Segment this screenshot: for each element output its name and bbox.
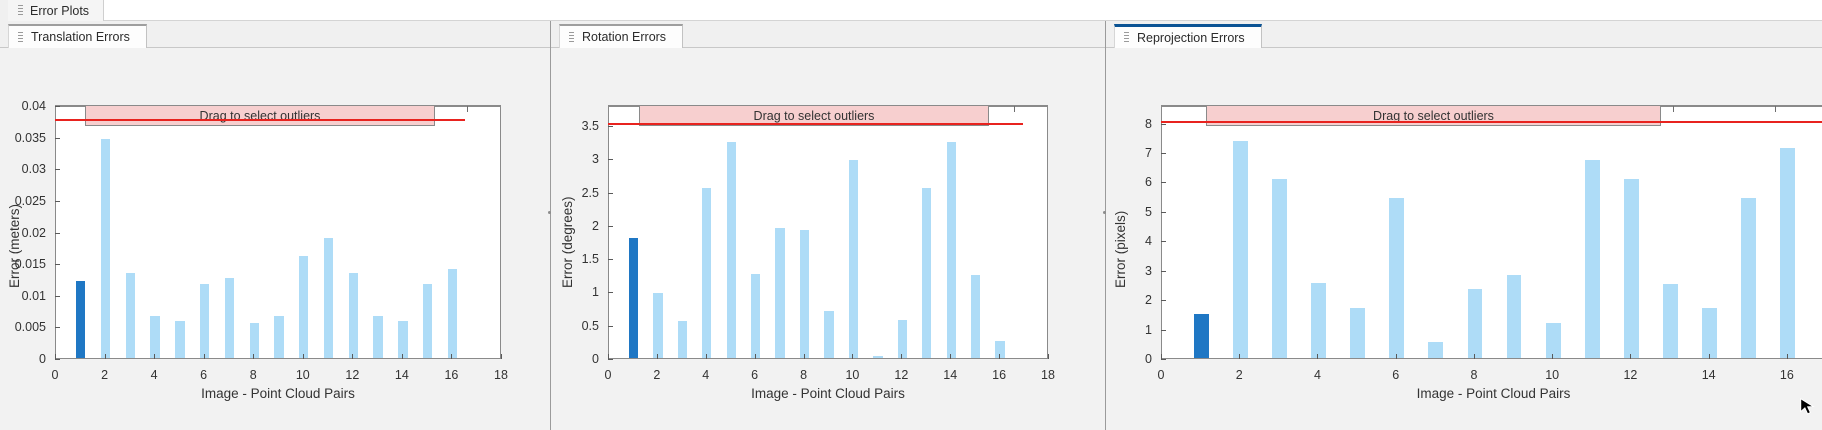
y-tick-mark — [608, 326, 613, 327]
bar[interactable] — [175, 321, 184, 358]
bar[interactable] — [1702, 308, 1717, 358]
y-tick-label: 3 — [1106, 264, 1159, 278]
y-tick-mark — [608, 292, 613, 293]
x-tick-mark — [1630, 354, 1631, 359]
x-tick-label: 10 — [845, 368, 859, 382]
bar[interactable] — [849, 160, 858, 358]
x-tick-label: 4 — [702, 368, 709, 382]
x-tick-label: 2 — [101, 368, 108, 382]
x-tick-label: 8 — [1470, 368, 1477, 382]
y-tick-label: 1 — [1106, 323, 1159, 337]
panel-body-3: Error (pixels)0123456780246810121416Imag… — [1106, 48, 1822, 430]
x-tick-mark — [55, 354, 56, 359]
y-tick-label: 0.03 — [0, 162, 53, 176]
y-tick-mark — [55, 264, 60, 265]
x-tick-label: 18 — [494, 368, 508, 382]
bar[interactable] — [1663, 284, 1678, 358]
x-tick-label: 12 — [894, 368, 908, 382]
outlier-threshold-line[interactable] — [55, 119, 465, 121]
y-tick-label: 0.02 — [0, 226, 53, 240]
bar-series — [609, 107, 1047, 358]
drag-grip-icon — [18, 5, 23, 16]
x-tick-mark — [950, 354, 951, 359]
y-tick-label: 3 — [551, 152, 606, 166]
y-tick-label: 2.5 — [551, 186, 606, 200]
bar[interactable] — [200, 284, 209, 358]
x-tick-mark — [1048, 354, 1049, 359]
bar[interactable] — [702, 188, 711, 358]
bar[interactable] — [1389, 198, 1404, 358]
figure-translation-errors: Error (meters)00.0050.010.0150.020.0250.… — [0, 48, 550, 430]
y-tick-mark — [608, 193, 613, 194]
panel-container: Translation Errors Error (meters)00.0050… — [0, 21, 1822, 430]
panel-tabbar-1: Translation Errors — [0, 21, 550, 48]
y-tick-mark — [55, 296, 60, 297]
x-tick-mark — [1787, 354, 1788, 359]
x-tick-label: 14 — [943, 368, 957, 382]
x-tick-mark — [657, 354, 658, 359]
x-tick-mark — [303, 354, 304, 359]
x-tick-label: 16 — [992, 368, 1006, 382]
bar[interactable] — [324, 238, 333, 358]
bar[interactable] — [76, 281, 85, 358]
plot-area[interactable] — [608, 106, 1048, 359]
x-tick-mark — [154, 354, 155, 359]
document-tab-error-plots[interactable]: Error Plots — [8, 0, 104, 21]
outlier-slider-label: Drag to select outliers — [754, 109, 875, 123]
drag-grip-icon — [18, 32, 23, 43]
document-tab-filler — [100, 0, 1822, 21]
slider-notch — [1014, 106, 1015, 112]
x-tick-label: 16 — [444, 368, 458, 382]
y-axis-label: Error (meters) — [7, 204, 22, 288]
x-tick-mark — [999, 354, 1000, 359]
y-tick-mark — [55, 327, 60, 328]
bar[interactable] — [423, 284, 432, 358]
y-tick-label: 0 — [0, 352, 53, 366]
bar[interactable] — [1585, 160, 1600, 358]
figure-reprojection-errors: Error (pixels)0123456780246810121416Imag… — [1106, 48, 1822, 430]
y-tick-mark — [608, 359, 613, 360]
bar[interactable] — [898, 320, 907, 358]
x-tick-mark — [1552, 354, 1553, 359]
panel-tabbar-2: Rotation Errors — [551, 21, 1105, 48]
x-tick-mark — [901, 354, 902, 359]
y-tick-mark — [608, 226, 613, 227]
bar[interactable] — [1194, 314, 1209, 358]
x-tick-mark — [1396, 354, 1397, 359]
bar[interactable] — [922, 188, 931, 358]
bar[interactable] — [1780, 148, 1795, 358]
y-tick-label: 2 — [551, 219, 606, 233]
x-tick-label: 6 — [200, 368, 207, 382]
x-tick-label: 10 — [1545, 368, 1559, 382]
bar[interactable] — [1624, 179, 1639, 358]
bar[interactable] — [824, 311, 833, 358]
panel-tabbar-3: Reprojection Errors — [1106, 21, 1822, 48]
tab-label: Reprojection Errors — [1137, 31, 1245, 45]
mouse-cursor-icon — [1798, 396, 1820, 418]
x-tick-label: 4 — [151, 368, 158, 382]
x-tick-mark — [608, 354, 609, 359]
tab-label: Rotation Errors — [582, 30, 666, 44]
document-tab-strip: Error Plots — [0, 0, 1822, 21]
x-tick-label: 16 — [1780, 368, 1794, 382]
bar[interactable] — [678, 321, 687, 358]
x-tick-mark — [755, 354, 756, 359]
x-tick-mark — [1317, 354, 1318, 359]
y-tick-label: 0.005 — [0, 320, 53, 334]
x-tick-mark — [1161, 354, 1162, 359]
x-tick-mark — [1709, 354, 1710, 359]
y-tick-label: 1 — [551, 285, 606, 299]
tab-translation-errors[interactable]: Translation Errors — [8, 24, 147, 48]
drag-grip-icon — [1124, 32, 1129, 43]
y-tick-mark — [1161, 153, 1166, 154]
slider-notch — [1775, 106, 1776, 112]
bar[interactable] — [1350, 308, 1365, 358]
outlier-threshold-line[interactable] — [1161, 121, 1822, 123]
y-tick-label: 4 — [1106, 234, 1159, 248]
y-tick-mark — [1161, 182, 1166, 183]
bar[interactable] — [1272, 179, 1287, 358]
bar[interactable] — [373, 316, 382, 358]
bar[interactable] — [250, 323, 259, 358]
bar[interactable] — [800, 230, 809, 358]
x-tick-label: 10 — [296, 368, 310, 382]
x-tick-label: 0 — [1158, 368, 1165, 382]
y-tick-label: 2 — [1106, 293, 1159, 307]
tab-rotation-errors[interactable]: Rotation Errors — [559, 24, 683, 48]
panel-body-2: Error (degrees)00.511.522.533.5024681012… — [551, 48, 1105, 430]
y-tick-mark — [1161, 212, 1166, 213]
panel-rotation-errors: Rotation Errors Error (degrees)00.511.52… — [551, 21, 1106, 430]
y-tick-label: 0 — [1106, 352, 1159, 366]
outlier-slider-thumb[interactable]: Drag to select outliers — [1206, 105, 1661, 126]
y-tick-label: 0.025 — [0, 194, 53, 208]
bar[interactable] — [1546, 323, 1561, 358]
y-tick-mark — [1161, 271, 1166, 272]
x-tick-mark — [1474, 354, 1475, 359]
x-tick-mark — [253, 354, 254, 359]
y-tick-label: 0.5 — [551, 319, 606, 333]
x-tick-label: 6 — [751, 368, 758, 382]
y-tick-label: 0.015 — [0, 257, 53, 271]
tab-reprojection-errors[interactable]: Reprojection Errors — [1114, 24, 1262, 48]
y-tick-mark — [1161, 124, 1166, 125]
y-tick-mark — [55, 138, 60, 139]
bar[interactable] — [299, 256, 308, 358]
x-tick-mark — [501, 354, 502, 359]
bar[interactable] — [448, 269, 457, 358]
bar[interactable] — [971, 275, 980, 358]
bar-series — [56, 107, 500, 358]
x-axis-label: Image - Point Cloud Pairs — [608, 386, 1048, 401]
y-tick-mark — [1161, 330, 1166, 331]
panel-translation-errors: Translation Errors Error (meters)00.0050… — [0, 21, 551, 430]
x-tick-label: 12 — [1623, 368, 1637, 382]
outlier-threshold-line[interactable] — [608, 123, 1023, 125]
x-tick-mark — [352, 354, 353, 359]
x-tick-mark — [451, 354, 452, 359]
bar[interactable] — [126, 273, 135, 358]
document-tab-label: Error Plots — [30, 4, 89, 18]
x-tick-mark — [852, 354, 853, 359]
bar[interactable] — [1507, 275, 1522, 358]
x-tick-mark — [204, 354, 205, 359]
y-tick-mark — [1161, 359, 1166, 360]
bar[interactable] — [150, 316, 159, 358]
y-tick-mark — [608, 126, 613, 127]
panel-reprojection-errors: Reprojection Errors Error (pixels)012345… — [1106, 21, 1822, 430]
bar[interactable] — [398, 321, 407, 358]
y-tick-label: 5 — [1106, 205, 1159, 219]
y-tick-label: 0.04 — [0, 99, 53, 113]
x-tick-label: 2 — [1236, 368, 1243, 382]
x-tick-label: 18 — [1041, 368, 1055, 382]
bar[interactable] — [947, 142, 956, 358]
bar[interactable] — [1741, 198, 1756, 358]
y-tick-mark — [55, 233, 60, 234]
y-tick-mark — [1161, 300, 1166, 301]
plot-area[interactable] — [55, 106, 501, 359]
y-tick-mark — [55, 359, 60, 360]
y-tick-label: 3.5 — [551, 119, 606, 133]
y-tick-mark — [55, 201, 60, 202]
y-tick-mark — [608, 159, 613, 160]
x-tick-mark — [105, 354, 106, 359]
bar[interactable] — [1428, 342, 1443, 358]
bar[interactable] — [629, 238, 638, 358]
bar[interactable] — [653, 293, 662, 358]
slider-notch — [467, 106, 468, 112]
y-tick-label: 0.035 — [0, 131, 53, 145]
bar-series — [1162, 107, 1822, 358]
x-axis-label: Image - Point Cloud Pairs — [1161, 386, 1822, 401]
x-tick-mark — [1239, 354, 1240, 359]
x-tick-label: 8 — [250, 368, 257, 382]
x-tick-label: 8 — [800, 368, 807, 382]
bar[interactable] — [1233, 141, 1248, 358]
outlier-slider-thumb[interactable]: Drag to select outliers — [85, 105, 435, 126]
x-tick-label: 4 — [1314, 368, 1321, 382]
x-tick-label: 12 — [345, 368, 359, 382]
bar[interactable] — [225, 278, 234, 358]
x-tick-label: 14 — [1702, 368, 1716, 382]
y-tick-mark — [55, 169, 60, 170]
x-tick-label: 2 — [653, 368, 660, 382]
x-tick-mark — [706, 354, 707, 359]
bar[interactable] — [775, 228, 784, 358]
x-tick-mark — [402, 354, 403, 359]
bar[interactable] — [751, 274, 760, 358]
bar[interactable] — [873, 356, 882, 358]
x-tick-label: 0 — [52, 368, 59, 382]
x-tick-label: 6 — [1392, 368, 1399, 382]
x-tick-label: 14 — [395, 368, 409, 382]
x-tick-mark — [804, 354, 805, 359]
bar[interactable] — [349, 273, 358, 358]
bar[interactable] — [101, 139, 110, 358]
y-tick-mark — [55, 106, 60, 107]
y-tick-label: 7 — [1106, 146, 1159, 160]
plot-area[interactable] — [1161, 106, 1822, 359]
figure-rotation-errors: Error (degrees)00.511.522.533.5024681012… — [551, 48, 1105, 430]
y-tick-label: 1.5 — [551, 252, 606, 266]
y-tick-label: 0 — [551, 352, 606, 366]
y-tick-mark — [1161, 241, 1166, 242]
y-tick-label: 0.01 — [0, 289, 53, 303]
bar[interactable] — [1311, 283, 1326, 358]
x-tick-label: 0 — [605, 368, 612, 382]
bar[interactable] — [727, 142, 736, 358]
x-axis-label: Image - Point Cloud Pairs — [55, 386, 501, 401]
y-tick-label: 6 — [1106, 175, 1159, 189]
y-tick-label: 8 — [1106, 117, 1159, 131]
drag-grip-icon — [569, 32, 574, 43]
y-axis-label: Error (degrees) — [560, 196, 575, 288]
panel-body-1: Error (meters)00.0050.010.0150.020.0250.… — [0, 48, 550, 430]
slider-notch — [1673, 106, 1674, 112]
tab-label: Translation Errors — [31, 30, 130, 44]
y-tick-mark — [608, 259, 613, 260]
bar[interactable] — [1468, 289, 1483, 358]
bar[interactable] — [274, 316, 283, 358]
